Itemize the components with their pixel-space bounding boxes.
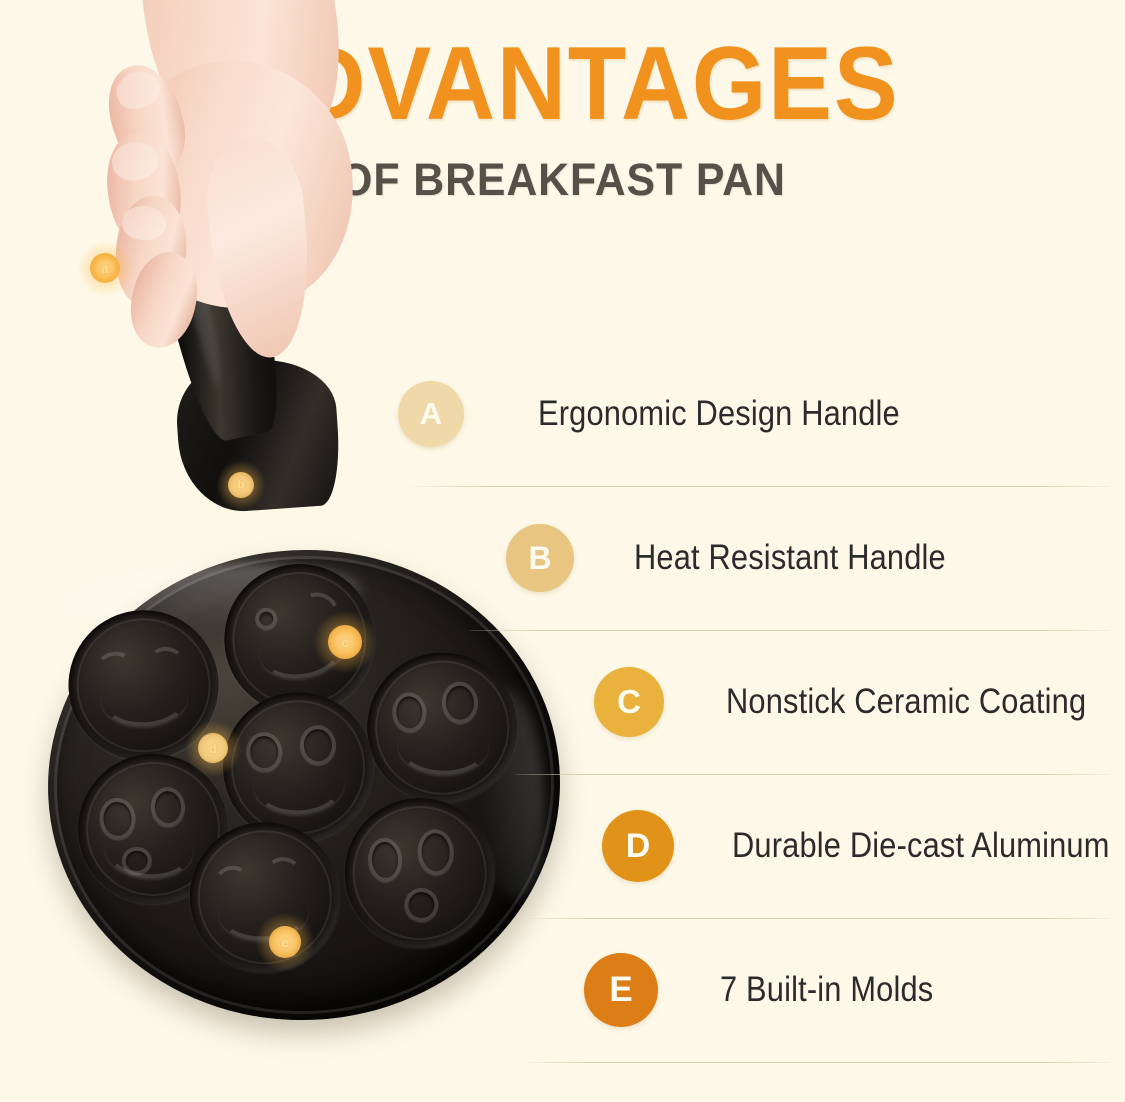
feature-label: Heat Resistant Handle	[634, 538, 946, 578]
feature-badge-e: E	[584, 953, 658, 1027]
infographic-canvas: ADVANTAGES OF BREAKFAST PAN	[0, 0, 1125, 1102]
feature-row[interactable]: BHeat Resistant Handle	[398, 486, 1110, 630]
feature-row[interactable]: AErgonomic Design Handle	[398, 342, 1110, 486]
feature-row[interactable]: E7 Built-in Molds	[398, 918, 1110, 1062]
feature-divider	[526, 1062, 1110, 1063]
feature-label: Durable Die-cast Aluminum	[732, 826, 1110, 866]
pan-marker-d[interactable]: d	[198, 733, 228, 763]
feature-badge-a: A	[398, 381, 464, 447]
feature-badge-b: B	[506, 524, 574, 592]
pan-marker-a[interactable]: a	[90, 253, 120, 283]
pan-marker-e[interactable]: e	[269, 926, 301, 958]
feature-row[interactable]: CNonstick Ceramic Coating	[398, 630, 1110, 774]
hand-holding-pan	[60, 20, 390, 450]
feature-label: 7 Built-in Molds	[720, 970, 933, 1010]
feature-label: Nonstick Ceramic Coating	[726, 682, 1086, 722]
feature-row[interactable]: DDurable Die-cast Aluminum	[398, 774, 1110, 918]
pan-marker-c[interactable]: c	[328, 625, 362, 659]
feature-badge-c: C	[594, 667, 664, 737]
feature-list: AErgonomic Design HandleBHeat Resistant …	[398, 342, 1110, 1062]
feature-label: Ergonomic Design Handle	[538, 394, 900, 434]
pan-marker-b[interactable]: b	[228, 472, 254, 498]
feature-badge-d: D	[602, 810, 674, 882]
